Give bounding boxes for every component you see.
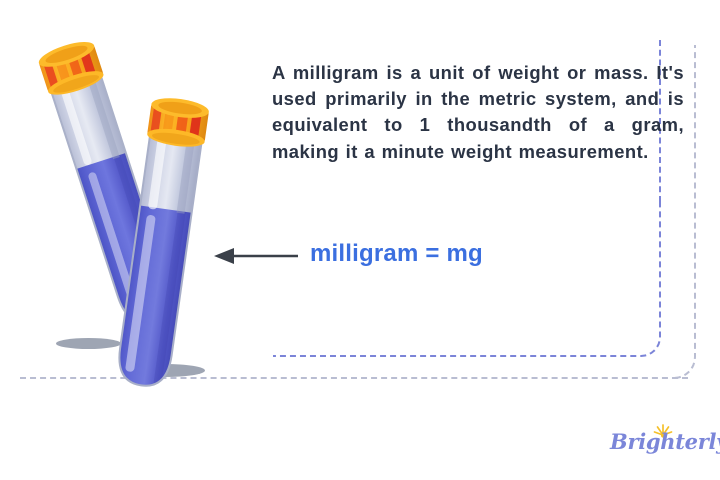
brighterly-logo-text: Brighterly <box>610 429 720 454</box>
brighterly-logo[interactable]: Brighterly <box>610 421 710 461</box>
inner-frame-dashed-border <box>273 198 661 357</box>
definition-paragraph: A milligram is a unit of weight or mass.… <box>272 60 684 165</box>
infographic-canvas: A milligram is a unit of weight or mass.… <box>0 0 720 480</box>
left-tube-shadow <box>56 338 121 349</box>
pointer-arrow-icon <box>214 244 298 268</box>
formula-label: milligram = mg <box>310 240 483 268</box>
